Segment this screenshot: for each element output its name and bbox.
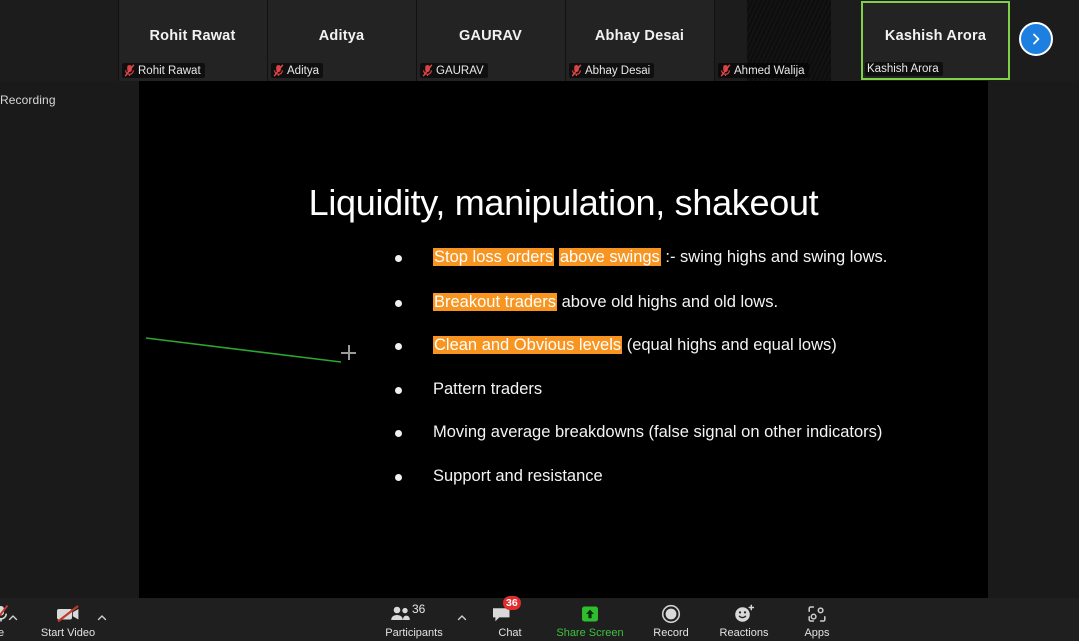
bullet-dot-icon <box>395 343 402 350</box>
tile-divider <box>714 0 715 81</box>
reactions-icon <box>732 603 756 625</box>
highlighted-text: Stop loss orders <box>433 248 554 266</box>
participant-footer-name: Ahmed Walija <box>734 65 805 77</box>
video-options-chevron-up-icon[interactable] <box>96 611 108 623</box>
bullet-text: Stop loss orders above swings :- swing h… <box>433 248 895 268</box>
shared-screen-content: Liquidity, manipulation, shakeout Stop l… <box>139 81 988 598</box>
bullet-text: Moving average breakdowns (false signal … <box>433 423 895 443</box>
list-item: Breakout traders above old highs and old… <box>395 293 895 313</box>
slide-bullet-list: Stop loss orders above swings :- swing h… <box>395 248 895 502</box>
microphone-muted-icon <box>571 64 582 77</box>
microphone-muted-icon <box>124 64 135 77</box>
apps-label: Apps <box>804 627 829 639</box>
plain-text: (equal highs and equal lows) <box>622 336 837 354</box>
reactions-button[interactable]: Reactions <box>713 598 775 639</box>
list-item: Stop loss orders above swings :- swing h… <box>395 248 895 268</box>
microphone-muted-icon <box>273 64 284 77</box>
video-off-icon <box>53 603 83 625</box>
record-icon <box>660 603 682 625</box>
highlighted-text: Clean and Obvious levels <box>433 336 622 354</box>
microphone-muted-icon <box>422 64 433 77</box>
participant-footer-name: Rohit Rawat <box>138 65 201 77</box>
plain-text: Moving average breakdowns (false signal … <box>433 423 882 441</box>
filmstrip-next-page-button[interactable] <box>1019 22 1053 56</box>
bullet-dot-icon <box>395 474 402 481</box>
participant-tile-gaurav[interactable]: GAURAV GAURAV <box>416 0 565 81</box>
participant-tile-aditya[interactable]: Aditya Aditya <box>267 0 416 81</box>
share-screen-label: Share Screen <box>556 627 623 639</box>
participants-options-chevron-up-icon[interactable] <box>456 611 468 623</box>
plain-text: :- swing highs and swing lows. <box>661 248 888 266</box>
bullet-text: Breakout traders above old highs and old… <box>433 293 895 313</box>
participant-footer: GAURAV <box>420 63 488 78</box>
list-item: Pattern traders <box>395 380 895 400</box>
participant-tile-abhay-desai[interactable]: Abhay Desai Abhay Desai <box>565 0 714 81</box>
slide-title: Liquidity, manipulation, shakeout <box>139 182 988 224</box>
chat-icon: 36 <box>490 603 530 625</box>
reactions-label: Reactions <box>720 627 769 639</box>
microphone-muted-icon <box>720 64 731 77</box>
recording-indicator: Recording <box>0 93 56 107</box>
participant-footer: Aditya <box>271 63 323 78</box>
share-screen-icon <box>579 603 601 625</box>
audio-options-chevron-up-icon[interactable] <box>7 611 19 623</box>
zoom-meeting-window: Rohit Rawat Rohit Rawat Aditya Aditya GA <box>0 0 1079 641</box>
bullet-text: Clean and Obvious levels (equal highs an… <box>433 336 895 356</box>
participant-footer: Rohit Rawat <box>122 63 205 78</box>
participant-tile-kashish-arora[interactable]: Kashish Arora Kashish Arora <box>861 1 1010 80</box>
chevron-right-icon <box>1028 31 1044 47</box>
participant-display-name: Aditya <box>267 28 416 44</box>
unmute-label: e <box>0 627 4 639</box>
chat-unread-badge: 36 <box>503 596 521 610</box>
participant-display-name: Rohit Rawat <box>118 28 267 44</box>
participant-tile-ahmed-walija[interactable]: Ahmed Walija <box>714 0 863 81</box>
crosshair-cursor-icon <box>341 345 356 360</box>
participant-footer: Kashish Arora <box>865 62 943 76</box>
participant-footer: Abhay Desai <box>569 63 654 78</box>
list-item: Support and resistance <box>395 467 895 487</box>
participant-footer-name: Aditya <box>287 65 319 77</box>
chat-button[interactable]: 36 Chat <box>488 598 532 639</box>
bullet-dot-icon <box>395 430 402 437</box>
highlighted-text: above swings <box>559 248 661 266</box>
chat-label: Chat <box>498 627 521 639</box>
bullet-dot-icon <box>395 387 402 394</box>
apps-icon <box>806 603 828 625</box>
bullet-text: Pattern traders <box>433 380 895 400</box>
plain-text: Support and resistance <box>433 467 603 485</box>
participant-footer-name: Abhay Desai <box>585 65 650 77</box>
participant-display-name: Abhay Desai <box>565 28 714 44</box>
plain-text: above old highs and old lows. <box>557 293 778 311</box>
participant-display-name: Kashish Arora <box>863 28 1008 44</box>
participants-icon: 36 <box>390 603 438 625</box>
participant-footer-name: Kashish Arora <box>867 63 939 75</box>
participant-filmstrip: Rohit Rawat Rohit Rawat Aditya Aditya GA <box>0 0 1079 81</box>
participant-tile-rohit-rawat[interactable]: Rohit Rawat Rohit Rawat <box>118 0 267 81</box>
meeting-toolbar: e Start Video 36 Participants <box>0 598 1079 641</box>
participants-button[interactable]: 36 Participants <box>383 598 445 639</box>
participant-display-name: GAURAV <box>416 28 565 44</box>
participant-footer: Ahmed Walija <box>718 63 809 78</box>
bullet-dot-icon <box>395 300 402 307</box>
record-label: Record <box>653 627 688 639</box>
highlighted-text: Breakout traders <box>433 293 557 311</box>
start-video-button[interactable]: Start Video <box>38 598 98 639</box>
plain-text: Pattern traders <box>433 380 542 398</box>
bullet-dot-icon <box>395 255 402 262</box>
share-screen-button[interactable]: Share Screen <box>556 598 624 639</box>
participants-label: Participants <box>385 627 442 639</box>
bullet-text: Support and resistance <box>433 467 895 487</box>
list-item: Moving average breakdowns (false signal … <box>395 423 895 443</box>
participants-count: 36 <box>412 602 425 616</box>
participant-footer-name: GAURAV <box>436 65 484 77</box>
list-item: Clean and Obvious levels (equal highs an… <box>395 336 895 356</box>
start-video-label: Start Video <box>41 627 95 639</box>
apps-button[interactable]: Apps <box>793 598 841 639</box>
record-button[interactable]: Record <box>645 598 697 639</box>
